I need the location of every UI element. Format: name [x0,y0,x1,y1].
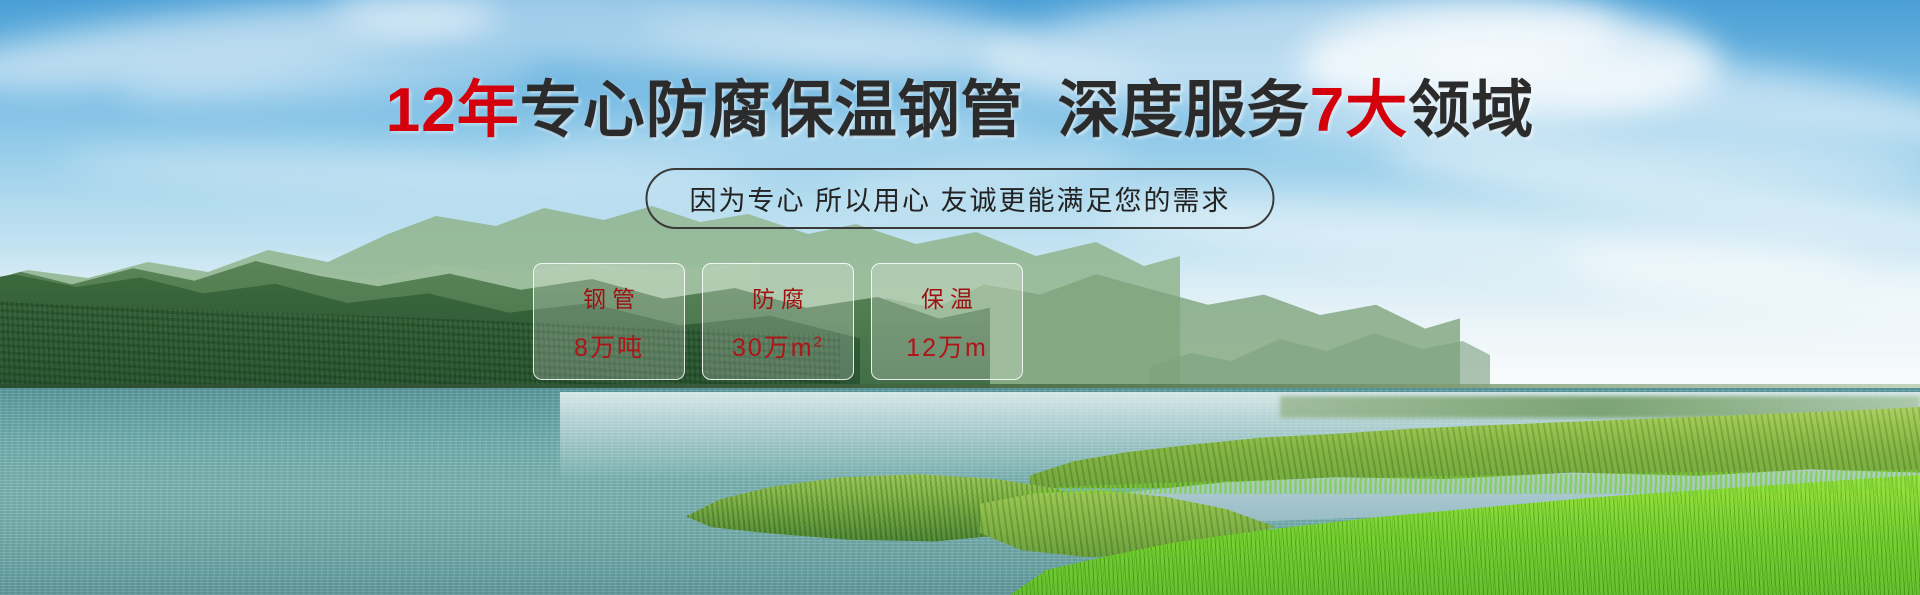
stat-card-value: 30万m2 [732,328,824,364]
stat-card-title: 防腐 [746,280,810,314]
banner-subtitle: 因为专心 所以用心 友诚更能满足您的需求 [645,168,1274,229]
stat-card-steel-pipe: 钢管 8万吨 [533,263,685,380]
stat-card-anticorrosion: 防腐 30万m2 [702,263,854,380]
hero-banner: 12年专心防腐保温钢管深度服务7大领域 因为专心 所以用心 友诚更能满足您的需求… [0,0,1920,595]
stat-card-value-superscript: 2 [814,333,824,350]
stat-card-insulation: 保温 12万m [871,263,1023,380]
headline-fields: 领域 [1408,76,1534,145]
stat-card-value: 8万吨 [574,328,644,364]
stat-card-value-text: 30万m [732,334,814,362]
headline-main: 专心防腐保温钢管 [520,76,1024,145]
stat-card-value-text: 8万吨 [574,334,644,362]
headline-service: 深度服务 [1058,76,1310,145]
banner-headline: 12年专心防腐保温钢管深度服务7大领域 [0,80,1920,142]
stat-card-title: 钢管 [577,280,641,314]
headline-seven: 7大 [1310,76,1408,145]
stat-card-title: 保温 [915,280,979,314]
stat-card-value: 12万m [906,328,988,364]
headline-years: 12年 [386,76,520,145]
stat-card-value-text: 12万m [906,334,988,362]
stat-card-group: 钢管 8万吨 防腐 30万m2 保温 12万m [533,263,1023,380]
